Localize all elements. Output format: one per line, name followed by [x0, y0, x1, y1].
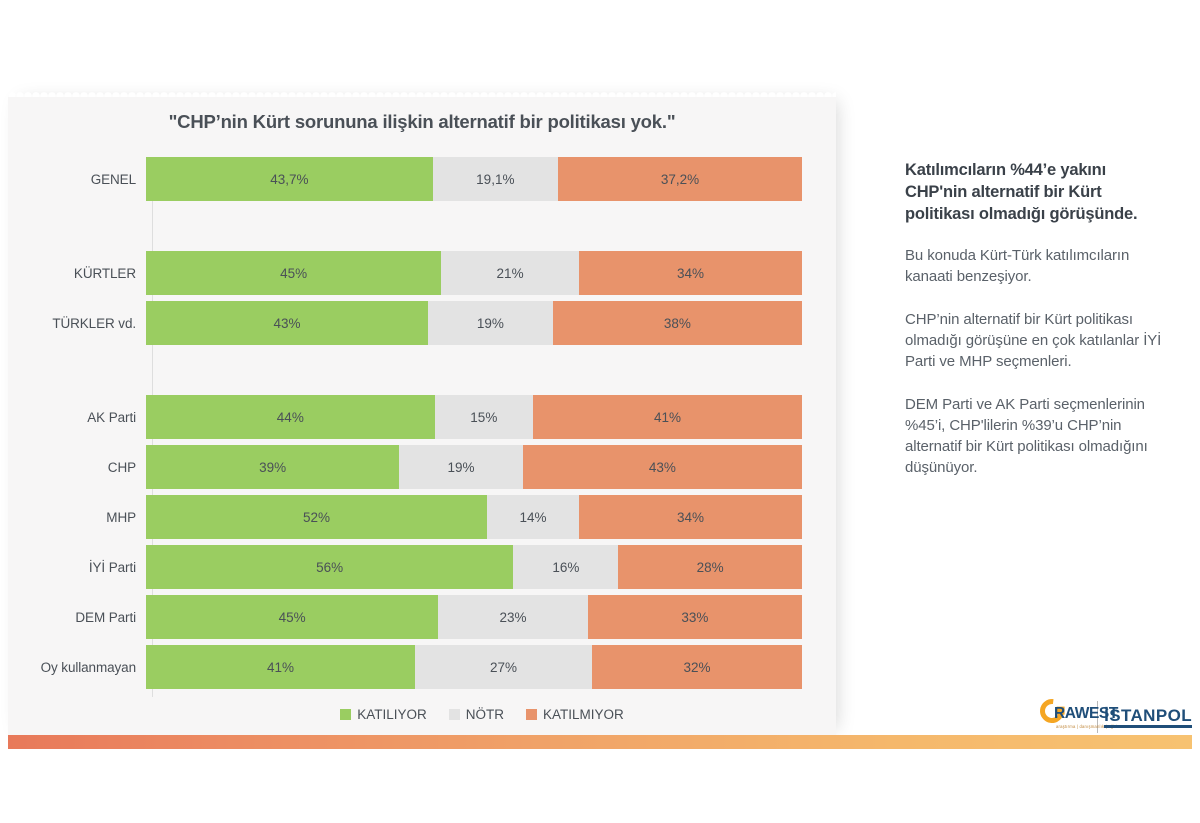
commentary-headline: Katılımcıların %44’e yakını CHP'nin alte… [905, 160, 1167, 225]
chart-row-label: CHP [8, 460, 146, 475]
chart-row-label: Oy kullanmayan [8, 660, 146, 675]
chart-row: TÜRKLER vd.43%19%38% [8, 301, 836, 345]
chart-segment-neutral: 21% [441, 251, 579, 295]
chart-segment-disagree: 38% [553, 301, 802, 345]
chart-row-label: TÜRKLER vd. [8, 316, 146, 331]
chart-segment-disagree: 43% [523, 445, 802, 489]
chart-segment-neutral: 15% [435, 395, 533, 439]
logo-group: RAWEST araştırma | danışmanlık | eğitim … [1040, 697, 1192, 737]
chart-segment-agree: 56% [146, 545, 513, 589]
chart-segment-disagree: 32% [592, 645, 802, 689]
legend-swatch-icon [449, 709, 460, 720]
chart-row-label: MHP [8, 510, 146, 525]
commentary-paragraph-1: Bu konuda Kürt-Türk katılımcıların kanaa… [905, 245, 1167, 287]
chart-row: GENEL43,7%19,1%37,2% [8, 157, 836, 201]
chart-segment-disagree: 34% [579, 495, 802, 539]
chart-row-bars: 45%21%34% [146, 251, 802, 295]
istanpol-wordmark: İSTANPOL [1104, 707, 1192, 728]
chart-row: CHP39%19%43% [8, 445, 836, 489]
legend-item: NÖTR [449, 707, 504, 722]
chart-row-bars: 52%14%34% [146, 495, 802, 539]
legend-swatch-icon [340, 709, 351, 720]
infographic-root: "CHP’nin Kürt sorununa ilişkin alternati… [0, 0, 1200, 823]
chart-segment-agree: 44% [146, 395, 435, 439]
legend-item: KATILIYOR [340, 707, 427, 722]
chart-row: AK Parti44%15%41% [8, 395, 836, 439]
chart-row-bars: 56%16%28% [146, 545, 802, 589]
bottom-gradient-bar [8, 735, 1192, 749]
legend-label: KATILMIYOR [543, 707, 624, 722]
commentary-paragraph-2: CHP’nin alternatif bir Kürt politikası o… [905, 309, 1167, 372]
chart-row: MHP52%14%34% [8, 495, 836, 539]
commentary-paragraph-3: DEM Parti ve AK Parti seçmenlerinin %45’… [905, 394, 1167, 478]
chart-row-label: KÜRTLER [8, 266, 146, 281]
chart-row-label: İYİ Parti [8, 560, 146, 575]
chart-row: KÜRTLER45%21%34% [8, 251, 836, 295]
chart-segment-agree: 45% [146, 251, 441, 295]
chart-row-bars: 41%27%32% [146, 645, 802, 689]
commentary-panel: Katılımcıların %44’e yakını CHP'nin alte… [905, 160, 1167, 500]
chart-segment-neutral: 19% [428, 301, 553, 345]
chart-segment-neutral: 19% [399, 445, 522, 489]
chart-segment-disagree: 37,2% [558, 157, 802, 201]
chart-segment-neutral: 14% [487, 495, 579, 539]
chart-segment-disagree: 41% [533, 395, 802, 439]
chart-legend: KATILIYORNÖTRKATILMIYOR [152, 707, 812, 722]
chart-row-label: DEM Parti [8, 610, 146, 625]
chart-row-label: GENEL [8, 172, 146, 187]
chart-row: DEM Parti45%23%33% [8, 595, 836, 639]
chart-row: Oy kullanmayan41%27%32% [8, 645, 836, 689]
legend-label: KATILIYOR [357, 707, 427, 722]
chart-segment-agree: 41% [146, 645, 415, 689]
chart-segment-neutral: 23% [438, 595, 587, 639]
chart-row-bars: 44%15%41% [146, 395, 802, 439]
chart-segment-disagree: 28% [618, 545, 802, 589]
legend-swatch-icon [526, 709, 537, 720]
chart-row-bars: 45%23%33% [146, 595, 802, 639]
chart-row-bars: 43,7%19,1%37,2% [146, 157, 802, 201]
legend-item: KATILMIYOR [526, 707, 624, 722]
chart-segment-disagree: 33% [588, 595, 802, 639]
chart-title: "CHP’nin Kürt sorununa ilişkin alternati… [8, 111, 836, 133]
chart-segment-agree: 39% [146, 445, 399, 489]
legend-label: NÖTR [466, 707, 504, 722]
chart-row-bars: 43%19%38% [146, 301, 802, 345]
chart-segment-neutral: 19,1% [433, 157, 558, 201]
torn-paper-edge-decoration [8, 89, 836, 97]
chart-row: İYİ Parti56%16%28% [8, 545, 836, 589]
chart-segment-agree: 52% [146, 495, 487, 539]
chart-row-label: AK Parti [8, 410, 146, 425]
chart-row-bars: 39%19%43% [146, 445, 802, 489]
chart-segment-disagree: 34% [579, 251, 802, 295]
chart-plot-area: GENEL43,7%19,1%37,2%KÜRTLER45%21%34%TÜRK… [8, 157, 836, 697]
chart-segment-agree: 45% [146, 595, 438, 639]
rawest-logo: RAWEST araştırma | danışmanlık | eğitim [1040, 697, 1090, 737]
chart-segment-agree: 43,7% [146, 157, 433, 201]
chart-segment-neutral: 16% [513, 545, 618, 589]
chart-panel: "CHP’nin Kürt sorununa ilişkin alternati… [8, 95, 836, 735]
chart-segment-agree: 43% [146, 301, 428, 345]
chart-segment-neutral: 27% [415, 645, 592, 689]
